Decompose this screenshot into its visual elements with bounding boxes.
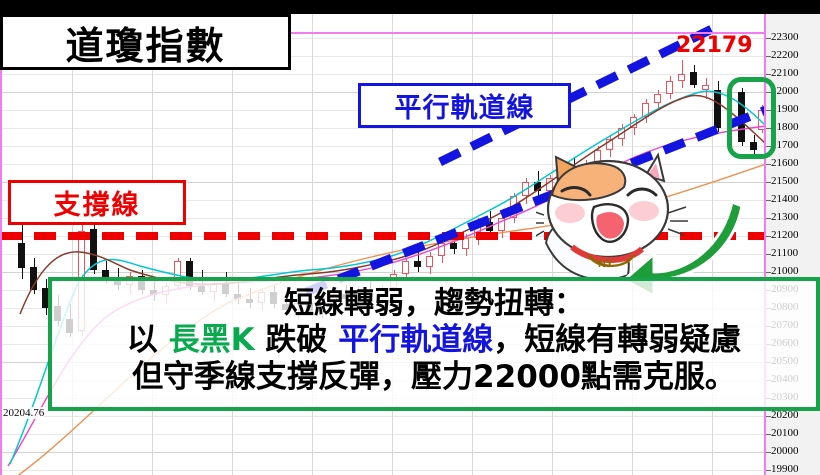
price-axis-tickmark	[766, 56, 771, 57]
price-axis-tickmark	[766, 164, 771, 165]
support-label-box: 支撐線	[8, 180, 186, 225]
price-axis-tick: 21100	[766, 248, 820, 259]
channel-label-text: 平行軌道線	[395, 86, 535, 125]
price-axis-tick: 22300	[766, 32, 820, 43]
price-axis-tick: 21600	[766, 158, 820, 169]
peak-value-label: 22179	[676, 33, 753, 58]
chart-title-box: 道瓊指數	[0, 14, 291, 70]
price-axis-tick: 22100	[766, 68, 820, 79]
price-axis-tick: 20000	[766, 446, 820, 457]
support-label-text: 支撐線	[54, 183, 141, 222]
price-axis-tick: 19900	[766, 464, 820, 475]
gridline	[0, 74, 766, 75]
chart-frame-left	[0, 14, 2, 475]
commentary-box: 短線轉弱，趨勢扭轉： 以 長黑K 跌破 平行軌道線，短線有轉弱疑慮 但守季線支撐…	[48, 277, 820, 411]
price-axis-tickmark	[766, 182, 771, 183]
gridline	[0, 416, 766, 417]
price-axis-tick: 20200	[766, 410, 820, 421]
gridline	[0, 128, 766, 129]
svg-text:NY: NY	[598, 258, 614, 270]
commentary-line-2: 以 長黑K 跌破 平行軌道線，短線有轉弱疑慮	[58, 325, 810, 356]
commentary-l2-highlight-green: 長黑K	[169, 322, 255, 358]
channel-label-box: 平行軌道線	[358, 83, 571, 128]
price-axis-tickmark	[766, 452, 771, 453]
page-title: 道瓊指數	[65, 15, 225, 70]
price-axis-tickmark	[766, 38, 771, 39]
price-axis-tickmark	[766, 74, 771, 75]
price-axis-tickmark	[766, 218, 771, 219]
price-axis-tickmark	[766, 416, 771, 417]
price-axis-tick: 21500	[766, 176, 820, 187]
price-axis-tick: 21300	[766, 212, 820, 223]
commentary-line-3: 但守季線支撐反彈，壓力22000點需克服。	[58, 362, 810, 393]
recent-candles-highlight	[727, 77, 776, 159]
price-axis-tick: 22200	[766, 50, 820, 61]
gridline	[0, 470, 766, 471]
price-axis-tickmark	[766, 272, 771, 273]
price-axis-tickmark	[766, 236, 771, 237]
gridline	[0, 452, 766, 453]
price-axis-tickmark	[766, 200, 771, 201]
axis-top-filler	[766, 0, 820, 14]
commentary-l2-a: 以	[127, 322, 158, 358]
commentary-l2-c: 跌破	[265, 322, 327, 358]
commentary-line-1: 短線轉弱，趨勢扭轉：	[58, 289, 810, 319]
price-axis-tick: 20100	[766, 428, 820, 439]
gridline	[0, 434, 766, 435]
commentary-l2-e: ，短線有轉弱疑慮	[493, 322, 741, 358]
price-axis-tick: 21200	[766, 230, 820, 241]
commentary-l2-highlight-blue: 平行軌道線	[338, 322, 493, 358]
price-axis-tick: 21400	[766, 194, 820, 205]
price-axis-tickmark	[766, 470, 771, 471]
screenshot-root: 20204.76 2230022200221002200021900218002…	[0, 0, 820, 475]
price-axis-tick: 21000	[766, 266, 820, 277]
left-price-tag: 20204.76	[3, 407, 44, 419]
price-axis-tickmark	[766, 254, 771, 255]
price-axis-tickmark	[766, 434, 771, 435]
